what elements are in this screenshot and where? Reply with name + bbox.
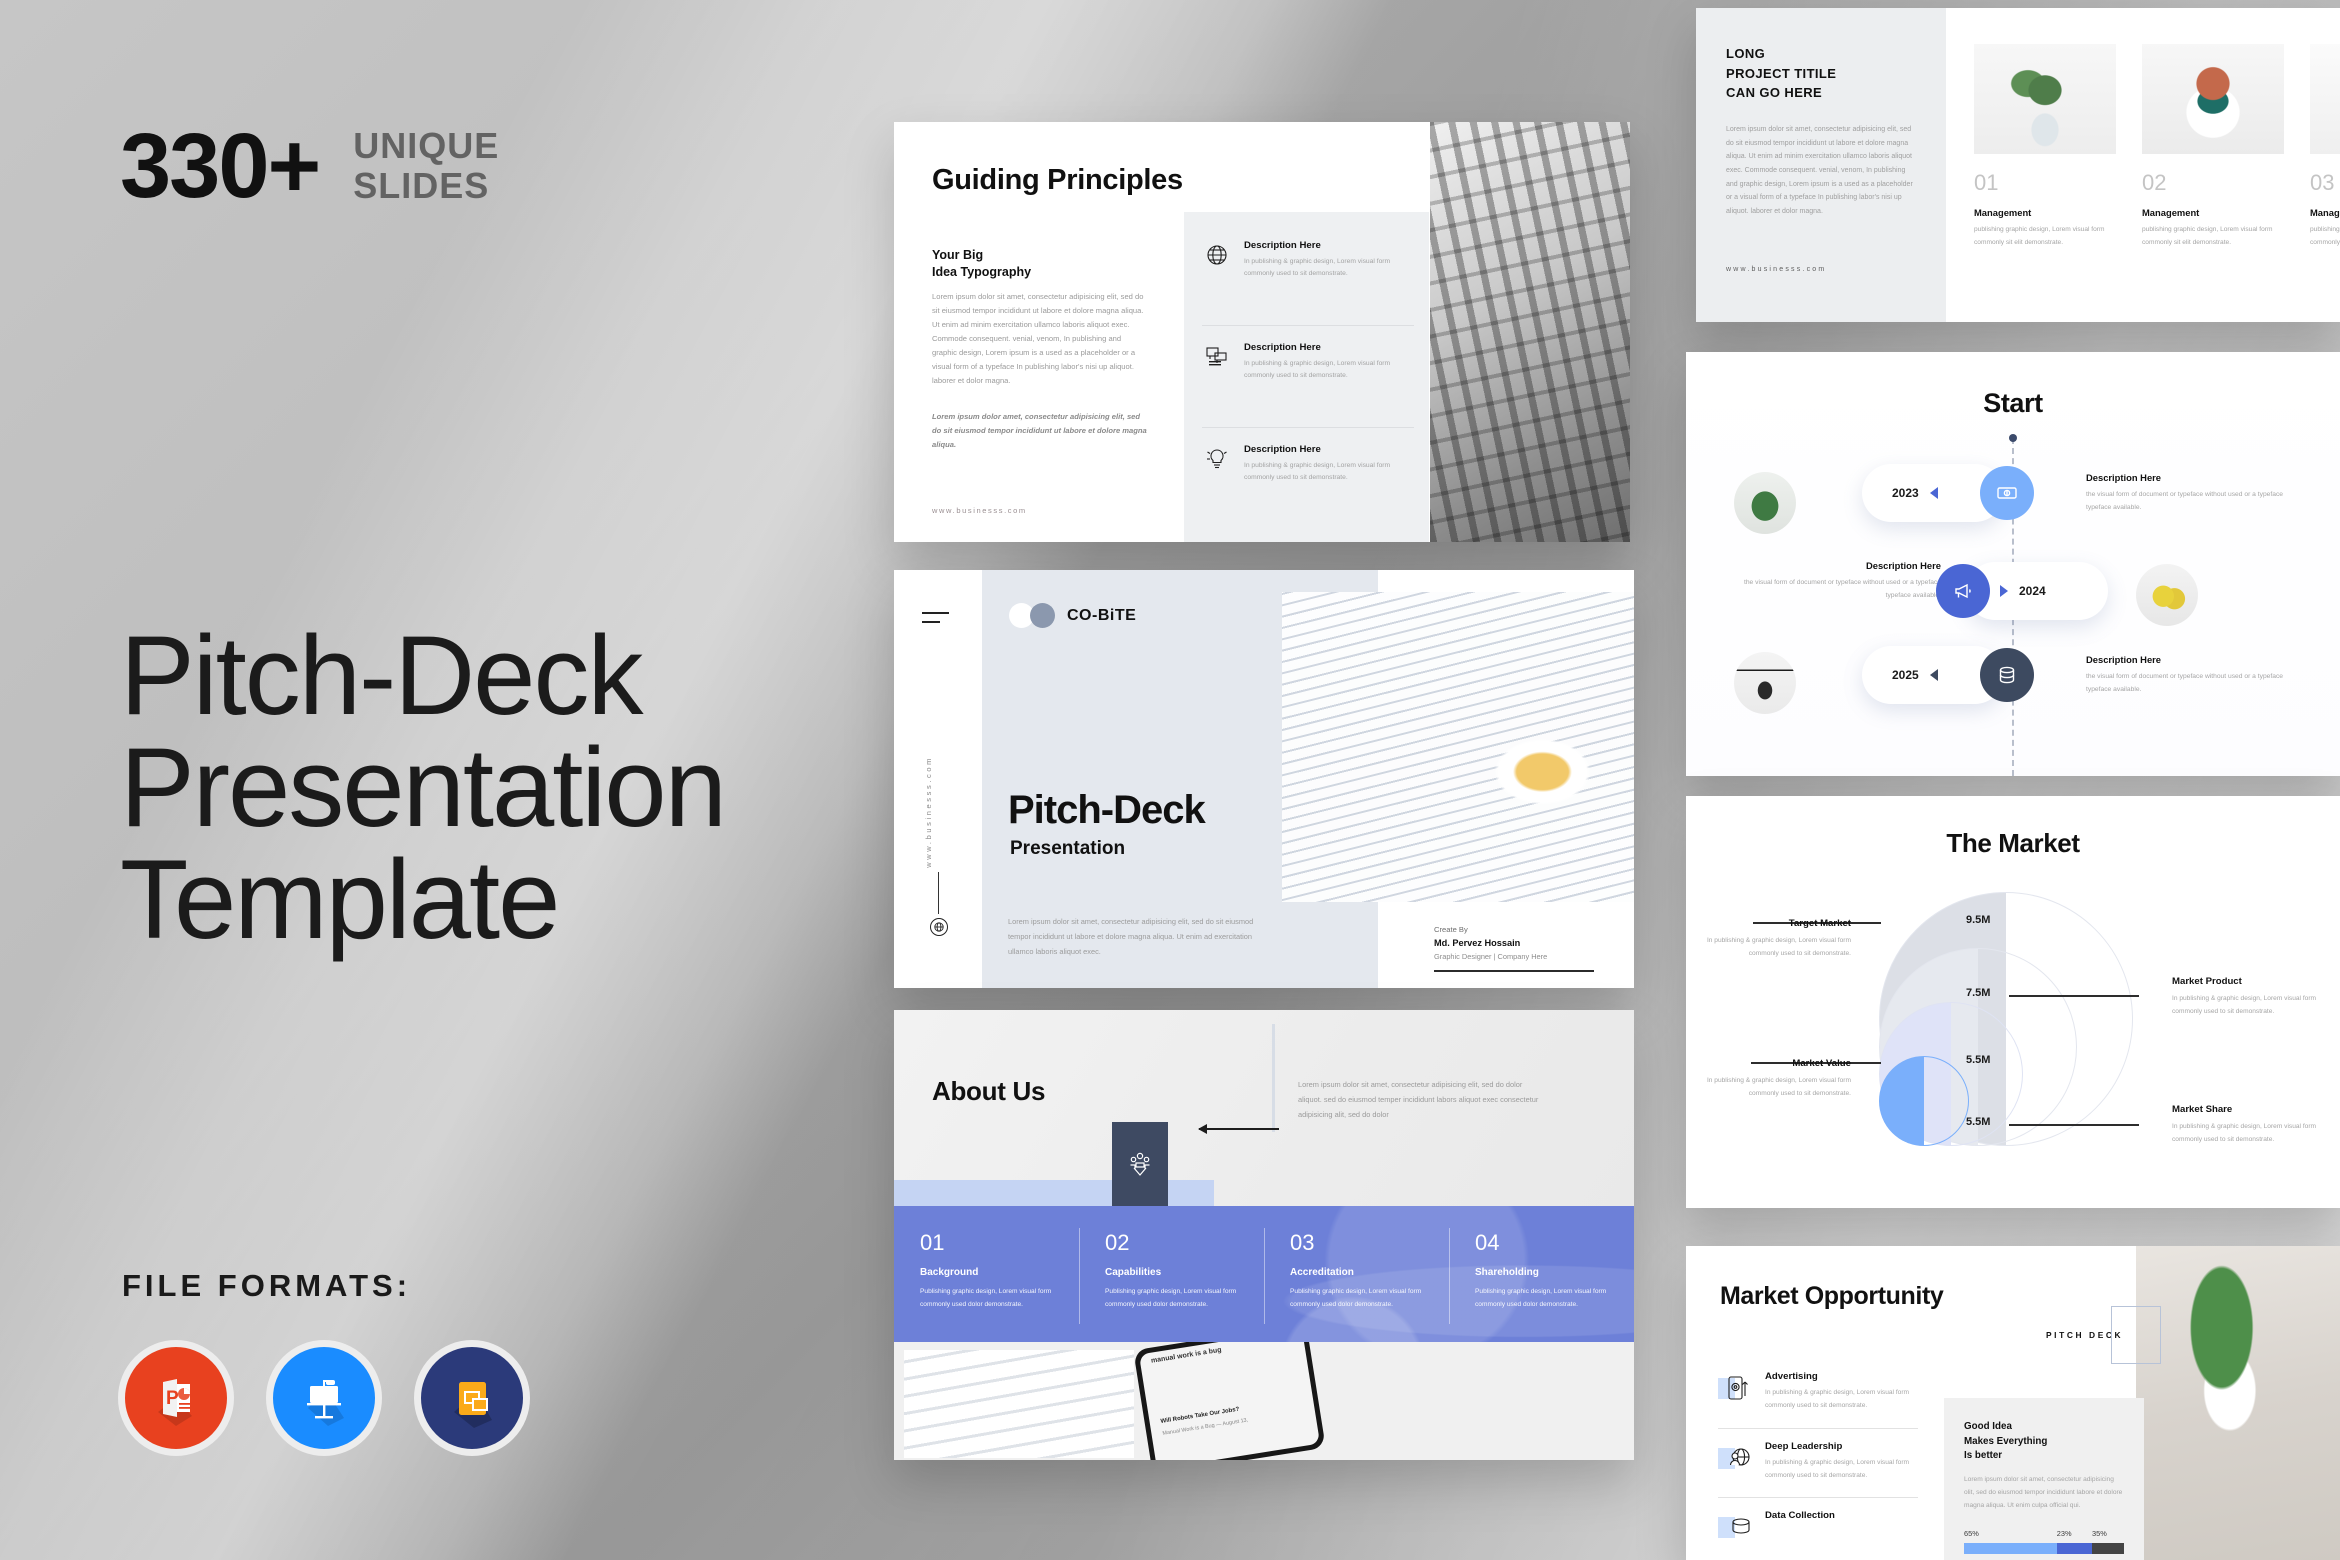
money-icon [1980,466,2034,520]
item-title: Advertising [1765,1371,1918,1382]
card-number: 01 [1974,172,2116,194]
label-text: In publishing & graphic design, Lorem vi… [1686,935,1851,961]
slide-pitch-deck-cover[interactable]: www.businesss.com CO-BiTE Pitch-Deck Pre… [894,570,1634,988]
slide-guiding-principles[interactable]: Guiding Principles Your Big Idea Typogra… [894,122,1630,542]
column-text: Publishing graphic design, Lorem visual … [1475,1285,1614,1311]
credit-label: Create By [1434,925,1594,934]
arrow-left-icon [1199,1128,1279,1130]
globe-icon [930,918,948,936]
slide-body-text: Lorem ipsum dolor sit amet, consectetur … [1726,123,1916,218]
label-text: In publishing & graphic design, Lorem vi… [2172,993,2337,1019]
credit-role: Graphic Designer | Company Here [1434,952,1594,961]
potted-plant-photo [2136,1246,2340,1560]
timeline-description: Description Here the visual form of docu… [2086,654,2301,696]
slide-about-us[interactable]: About Us Lorem ipsum dolor sit amet, con… [894,1010,1634,1460]
card-title: Management [1974,207,2116,218]
timeline-description-text: the visual form of document or typeface … [1726,577,1941,602]
column-title: Accreditation [1290,1267,1429,1278]
logo-text: CO-BiTE [1067,607,1136,625]
building-photo [1430,122,1630,542]
card-number: 03 [2310,172,2340,194]
column-text: Publishing graphic design, Lorem visual … [920,1285,1059,1311]
svg-text:P: P [166,1388,179,1409]
subtitle-line-2: Idea Typography [932,264,1031,281]
features-panel: Description Here In publishing & graphic… [1184,212,1429,542]
bubble-5-5m-b [1879,1056,1969,1146]
about-footer-photo-area: manual work is a bug Will Robots Take Ou… [894,1342,1634,1460]
timeline-step[interactable]: 2024 [1936,562,2108,620]
slide-subtitle: Your Big Idea Typography [932,247,1031,281]
column-title: Capabilities [1105,1267,1244,1278]
card-number: 02 [2142,172,2284,194]
menu-icon[interactable] [922,612,949,630]
divider [938,872,939,914]
title-line-3: Template [120,844,725,956]
timeline-description-title: Description Here [2086,472,2301,483]
mobile-gear-icon [1718,1371,1752,1405]
progress-segment-3 [2092,1543,2124,1554]
label-title: Market Product [2172,976,2337,987]
opportunity-item: Advertising In publishing & graphic desi… [1718,1371,1918,1425]
about-column: 03 Accreditation Publishing graphic desi… [1264,1206,1449,1342]
cactus-photo [2136,564,2198,626]
column-number: 03 [1290,1232,1429,1254]
card-title: Management [2310,207,2340,218]
opportunity-item: Data Collection [1718,1510,1918,1556]
item-title: Deep Leadership [1765,1441,1918,1452]
globe-icon [1202,240,1232,270]
count-label-line2: SLIDES [353,166,499,206]
column-title: Shareholding [1475,1267,1614,1278]
about-columns-band: 01 Background Publishing graphic design,… [894,1206,1634,1342]
keyboard-photo [904,1350,1134,1458]
leader-line [2009,1124,2139,1126]
label-text: In publishing & graphic design, Lorem vi… [2172,1121,2337,1147]
bubble-value: 5.5M [1966,1116,1990,1128]
pitch-deck-badge: PITCH DECK [2046,1306,2161,1364]
powerpoint-icon[interactable]: P [118,1340,234,1456]
about-column: 04 Shareholding Publishing graphic desig… [1449,1206,1634,1342]
timeline-step[interactable]: 2023 [1862,464,2034,522]
timeline-start-dot [2009,434,2017,442]
label-title: Target Market [1686,918,1851,929]
slide-body-emphasis: Lorem ipsum dolor amet, consectetur adip… [932,410,1147,452]
divider [1718,1428,1918,1429]
team-people-icon [1112,1122,1168,1206]
progress-segment-2 [2057,1543,2092,1554]
management-card: 02 Management publishing graphic design,… [2142,44,2284,250]
feature-title: Description Here [1244,342,1414,353]
timeline-step[interactable]: 2025 [1862,646,2034,704]
management-cards: 01 Management publishing graphic design,… [1974,44,2340,250]
database-icon [1980,648,2034,702]
chair-with-cushions-photo [2142,44,2284,154]
slide-title: The Market [1686,828,2340,859]
bubble-value: 7.5M [1966,987,1990,999]
cover-body-text: Lorem ipsum dolor sit amet, consectetur … [1008,915,1258,959]
column-number: 04 [1475,1232,1614,1254]
card-text: Lorem ipsum dolor sit amet, consectetur … [1964,1474,2124,1513]
phone-photo: manual work is a bug Will Robots Take Ou… [1133,1342,1326,1460]
badge-outline-box [2111,1306,2161,1364]
label-text: In publishing & graphic design, Lorem vi… [1686,1075,1851,1101]
progress-percent-labels: 65% 23% 35% [1964,1529,2124,1538]
label-title: Market Value [1686,1058,1851,1069]
cover-heading: Pitch-Deck [1008,788,1205,833]
column-title: Background [920,1267,1059,1278]
card-heading-line-1: Good Idea [1964,1421,2012,1432]
slide-market-opportunity[interactable]: Market Opportunity PITCH DECK Advertisin… [1686,1246,2340,1560]
plant-in-vase-photo [1974,44,2116,154]
label-title: Market Share [2172,1104,2337,1115]
good-idea-card: Good Idea Makes Everything Is better Lor… [1944,1398,2144,1560]
market-label-target-market: Target Market In publishing & graphic de… [1686,918,1851,961]
feature-item: Description Here In publishing & graphic… [1202,342,1414,383]
bubble-value: 5.5M [1966,1054,1990,1066]
divider [1202,427,1414,428]
divider [1202,325,1414,326]
divider [1718,1497,1918,1498]
google-slides-icon[interactable] [414,1340,530,1456]
logo-mark-icon [1009,603,1055,628]
pineapple-photo [2310,44,2340,154]
opportunity-item: Deep Leadership In publishing & graphic … [1718,1441,1918,1495]
item-text: In publishing & graphic design, Lorem vi… [1765,1457,1918,1483]
title-line-1: LONG [1726,44,1836,64]
card-heading: Good Idea Makes Everything Is better [1964,1420,2124,1464]
timeline-year: 2023 [1892,486,1919,500]
brand-logo: CO-BiTE [1009,603,1136,628]
timeline-year: 2024 [2019,584,2046,598]
slide-start-timeline[interactable]: Start 2023 Description Here the visual f… [1686,352,2340,776]
card-heading-line-2: Makes Everything [1964,1436,2047,1447]
about-column: 02 Capabilities Publishing graphic desig… [1079,1206,1264,1342]
item-text: In publishing & graphic design, Lorem vi… [1765,1387,1918,1413]
feature-text: In publishing & graphic design, Lorem vi… [1244,358,1414,383]
slide-title: Guiding Principles [932,164,1183,197]
market-label-market-product: Market Product In publishing & graphic d… [2172,976,2337,1019]
management-card: 01 Management publishing graphic design,… [1974,44,2116,250]
progress-segment-1 [1964,1543,2057,1554]
keynote-icon[interactable] [266,1340,382,1456]
timeline-description-text: the visual form of document or typeface … [2086,489,2301,514]
card-text: publishing graphic design, Lorem visual … [2142,224,2284,250]
timeline-description: Description Here the visual form of docu… [1726,560,1941,602]
card-heading-line-3: Is better [1964,1450,2002,1461]
timeline-description-title: Description Here [1726,560,1941,571]
feature-text: In publishing & graphic design, Lorem vi… [1244,460,1414,485]
feature-title: Description Here [1244,240,1414,251]
cover-vertical-website: www.businesss.com [924,756,933,868]
page-title: Pitch-Deck Presentation Template [120,620,725,956]
leader-line [2009,995,2139,997]
vertical-rule [1272,1024,1275,1132]
opportunity-list: Advertising In publishing & graphic desi… [1718,1371,1918,1556]
timeline-year: 2025 [1892,668,1919,682]
timeline-description: Description Here the visual form of docu… [2086,472,2301,514]
triangle-left-icon [1930,669,1938,681]
market-bubble-chart: 9.5M 7.5M 5.5M 5.5M [1861,892,2151,1192]
column-number: 02 [1105,1232,1244,1254]
slide-title: About Us [932,1076,1045,1107]
slide-the-market[interactable]: The Market 9.5M 7.5M 5.5M 5.5M Target Ma… [1686,796,2340,1208]
card-text: publishing graphic design, Lorem visual … [2310,224,2340,250]
lightbulb-icon [1202,444,1232,474]
feature-text: In publishing & graphic design, Lorem vi… [1244,256,1414,281]
about-paragraph: Lorem ipsum dolor sit amet, consectetur … [1298,1078,1543,1122]
globe-person-icon [1718,1441,1752,1475]
card-text: publishing graphic design, Lorem visual … [1974,224,2116,250]
item-title: Data Collection [1765,1510,1835,1521]
file-formats-icons: P [118,1340,530,1456]
credit-name: Md. Pervez Hossain [1434,938,1594,948]
cover-subheading: Presentation [1010,838,1125,860]
slide-count-label: UNIQUE SLIDES [353,126,499,207]
megaphone-icon [1936,564,1990,618]
market-label-market-value: Market Value In publishing & graphic des… [1686,1058,1851,1101]
file-formats-label: FILE FORMATS: [122,1268,411,1304]
feature-item: Description Here In publishing & graphic… [1202,444,1414,485]
about-column: 01 Background Publishing graphic design,… [894,1206,1079,1342]
slide-count-block: 330+ UNIQUE SLIDES [120,120,499,212]
pendant-lamp-photo [1734,652,1796,714]
title-line-2: PROJECT TITILE [1726,64,1836,84]
percent-value: 35% [2092,1529,2124,1538]
progress-bar [1964,1543,2124,1554]
slide-title: LONG PROJECT TITILE CAN GO HERE [1726,44,1836,103]
promo-panel: 330+ UNIQUE SLIDES Pitch-Deck Presentati… [0,0,880,1560]
title-line-3: CAN GO HERE [1726,83,1836,103]
slide-body-text: Lorem ipsum dolor sit amet, consectetur … [932,290,1147,388]
timeline-description-title: Description Here [2086,654,2301,665]
divider [1434,970,1594,972]
title-line-1: Pitch-Deck [120,620,725,732]
percent-value: 65% [1964,1529,2057,1538]
column-number: 01 [920,1232,1059,1254]
timeline-description-text: the visual form of document or typeface … [2086,671,2301,696]
management-card: 03 Management publishing graphic design,… [2310,44,2340,250]
bubble-value: 9.5M [1966,914,1990,926]
triangle-left-icon [1930,487,1938,499]
data-collection-icon [1718,1510,1752,1544]
feature-title: Description Here [1244,444,1414,455]
percent-value: 23% [2057,1529,2092,1538]
succulent-photo [1734,472,1796,534]
triangle-right-icon [2000,585,2008,597]
card-title: Management [2142,207,2284,218]
presentation-chat-icon [1202,342,1232,372]
title-line-2: Presentation [120,732,725,844]
market-label-market-share: Market Share In publishing & graphic des… [2172,1104,2337,1147]
credit-block: Create By Md. Pervez Hossain Graphic Des… [1434,925,1594,972]
column-text: Publishing graphic design, Lorem visual … [1105,1285,1244,1311]
slide-title: Market Opportunity [1720,1282,1943,1311]
column-text: Publishing graphic design, Lorem visual … [1290,1285,1429,1311]
slide-title: Start [1686,388,2340,419]
slide-count-number: 330+ [120,120,319,212]
slide-website: www.businesss.com [932,506,1027,515]
subtitle-line-1: Your Big [932,247,1031,264]
desk-photo [1282,592,1634,902]
count-label-line1: UNIQUE [353,126,499,166]
slide-long-project-title[interactable]: LONG PROJECT TITILE CAN GO HERE Lorem ip… [1696,8,2340,322]
feature-item: Description Here In publishing & graphic… [1202,240,1414,281]
slide-website: www.businesss.com [1726,266,1826,273]
